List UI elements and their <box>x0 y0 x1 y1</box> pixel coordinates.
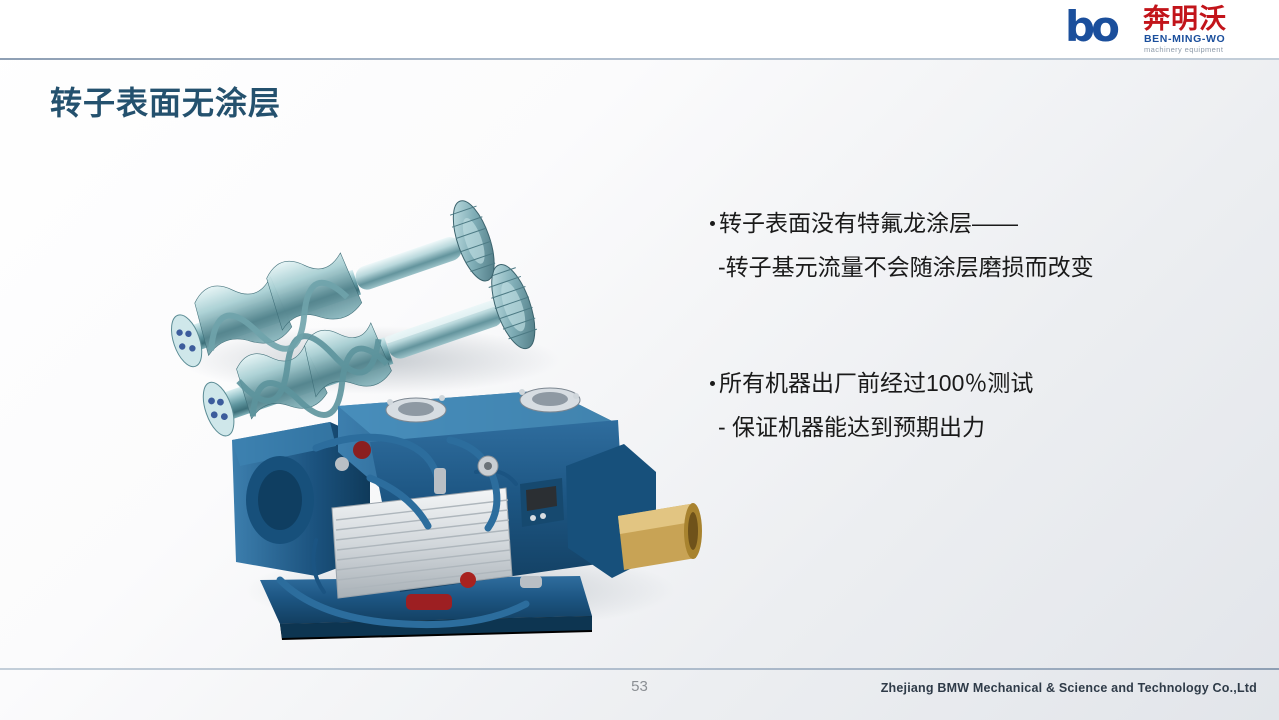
paragraph-2: 所有机器出厂前经过100％测试 - 保证机器能达到预期出力 <box>710 366 1250 444</box>
footer-divider <box>0 668 1279 670</box>
bullet-dot-icon <box>710 221 715 226</box>
paragraph-1: 转子表面没有特氟龙涂层—— -转子基元流量不会随涂层磨损而改变 <box>710 206 1250 284</box>
bullet-line-2: 所有机器出厂前经过100％测试 <box>710 366 1250 400</box>
bullet-dot-icon <box>710 381 715 386</box>
logo-tagline: machinery equipment <box>1144 45 1223 54</box>
bullet-line-1: 转子表面没有特氟龙涂层—— <box>710 206 1250 240</box>
bullet-line-1-text: 转子表面没有特氟龙涂层—— <box>719 210 1018 236</box>
header-divider <box>0 58 1279 60</box>
illustration-group <box>70 170 710 640</box>
logo-chinese-name: 奔明沃 <box>1143 4 1227 34</box>
page-title: 转子表面无涂层 <box>50 78 281 124</box>
slide: bo 奔明沃 BEN-MING-WO machinery equipment 转… <box>0 0 1279 720</box>
content-block: 转子表面没有特氟龙涂层—— -转子基元流量不会随涂层磨损而改变 所有机器出厂前经… <box>710 206 1250 452</box>
logo-english-name: BEN-MING-WO <box>1144 33 1225 45</box>
bullet-line-2-text: 所有机器出厂前经过100％测试 <box>719 370 1033 396</box>
sub-line-1: -转子基元流量不会随涂层磨损而改变 <box>718 250 1250 284</box>
company-logo: bo 奔明沃 BEN-MING-WO machinery equipment <box>1065 4 1255 54</box>
logo-mark-icon: bo <box>1065 6 1116 48</box>
footer-company-name: Zhejiang BMW Mechanical & Science and Te… <box>881 681 1257 695</box>
sub-line-2: - 保证机器能达到预期出力 <box>718 410 1250 444</box>
